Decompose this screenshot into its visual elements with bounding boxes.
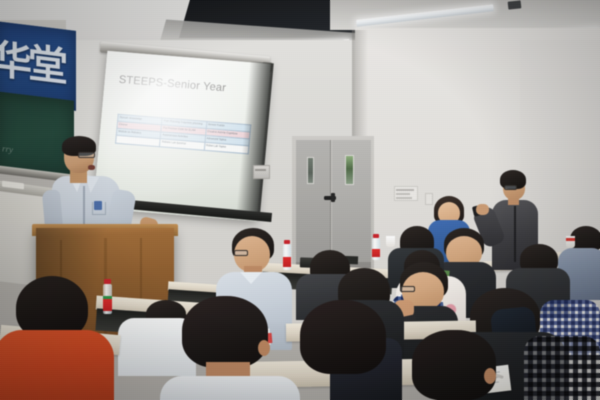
glasses-icon	[234, 250, 248, 256]
bottle-label	[103, 299, 112, 311]
notice-text-line	[396, 197, 412, 199]
speaker-badge	[94, 201, 102, 210]
classroom-photo: 华 堂 rry STEEPS-Senior Year Domain Knowle…	[0, 0, 600, 400]
woman-orange-top	[0, 330, 114, 400]
questioner-jacket-zip	[514, 206, 516, 262]
speaker-mouth	[88, 165, 95, 170]
notice-text-line	[396, 189, 414, 191]
door-window-left	[307, 157, 314, 184]
paper-cup-band	[566, 238, 575, 241]
student-ear	[484, 368, 496, 384]
slide-table: Domain KnowledgePath Planning Trajectory…	[115, 114, 251, 154]
notice-text-line	[396, 193, 410, 195]
student-hair-foreground	[300, 300, 386, 374]
paper-cup	[386, 236, 395, 247]
ceiling-fitting	[508, 0, 522, 9]
student-hair-foreground	[412, 330, 496, 400]
glasses-icon	[78, 152, 95, 158]
glasses-icon	[400, 286, 415, 292]
electrical-panel-slot	[255, 169, 266, 171]
man-shirt-foreground	[160, 376, 300, 400]
door-handle-base	[331, 193, 335, 202]
man-ear	[258, 340, 270, 356]
man-hair-foreground	[182, 296, 268, 368]
ceiling-beam	[330, 0, 600, 30]
banner-glyph-2: 堂	[28, 44, 68, 89]
student-plaid-foreground	[524, 336, 600, 400]
electrical-panel[interactable]	[253, 165, 270, 179]
slide-title: STEEPS-Senior Year	[118, 74, 226, 95]
questioner-hand	[476, 204, 489, 215]
bottle-label	[283, 257, 291, 267]
door-window-right	[345, 155, 354, 185]
bottle-label	[372, 249, 380, 257]
wall-switch-box[interactable]	[425, 193, 433, 205]
glasses-icon	[504, 185, 517, 190]
